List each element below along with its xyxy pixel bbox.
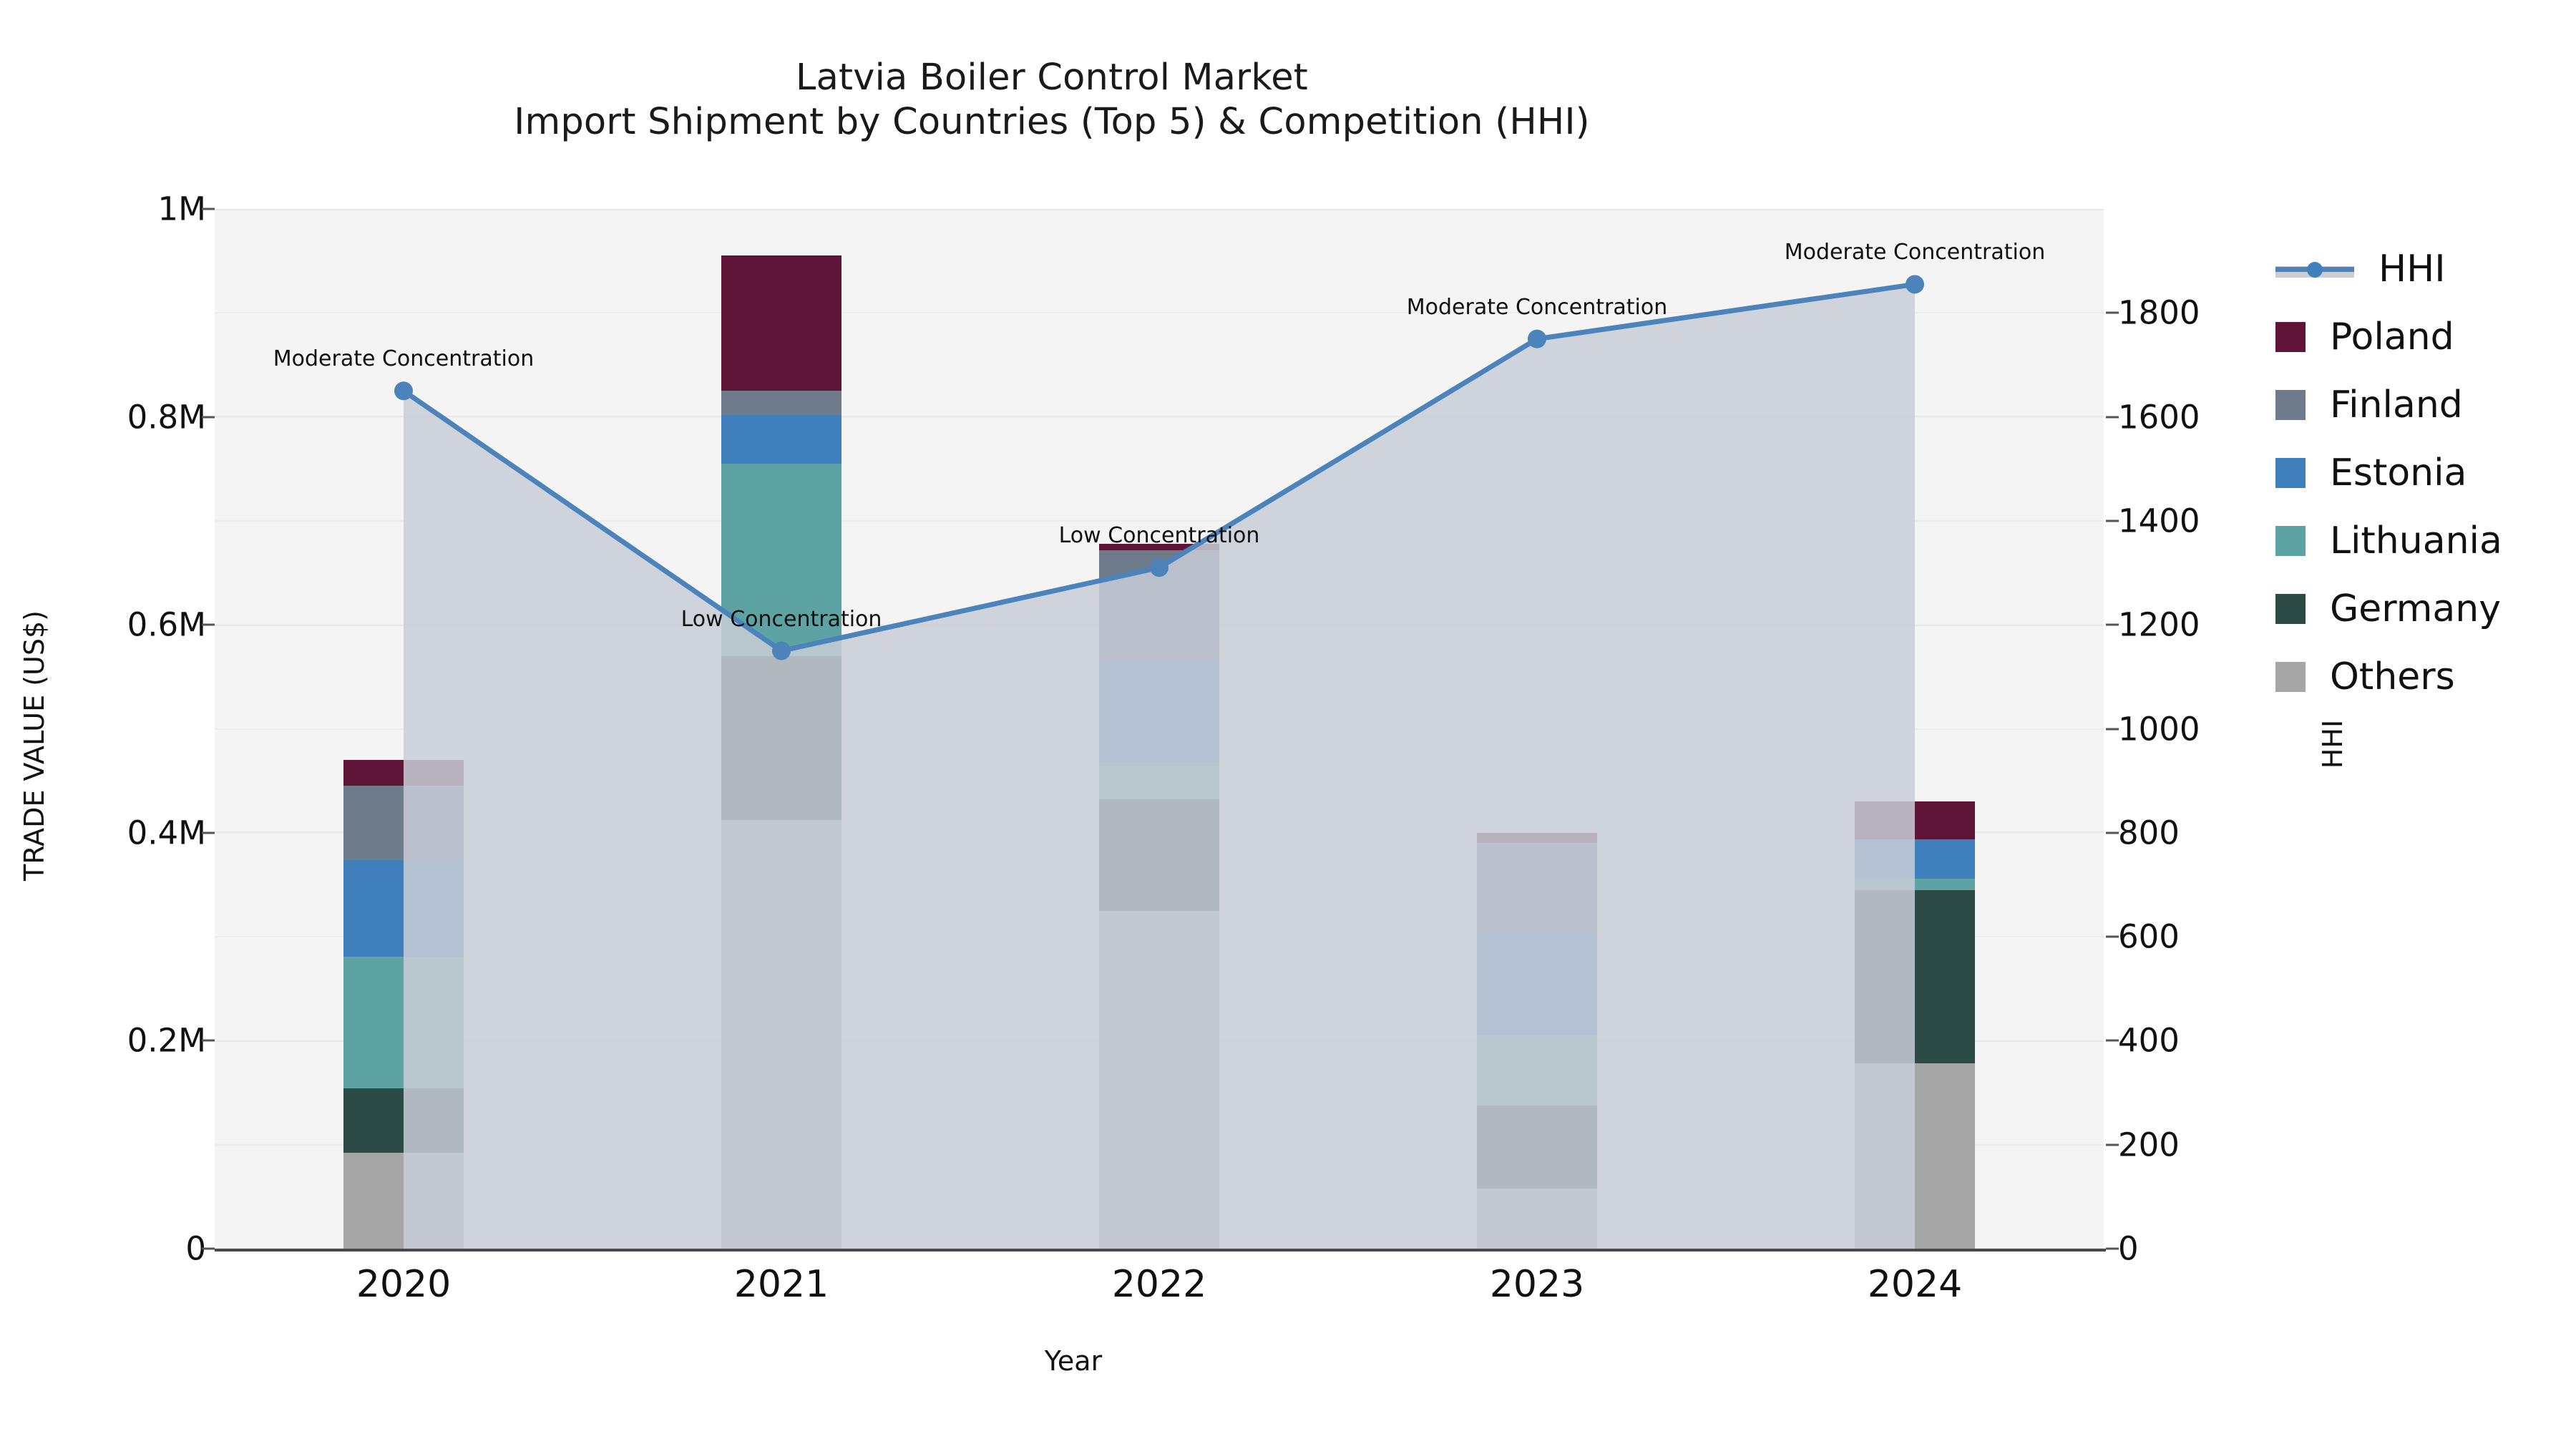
y-tick-left-0.4M: 0.4M: [127, 814, 206, 852]
x-tick-2022: 2022: [1112, 1263, 1206, 1306]
legend-swatch-icon: [2275, 458, 2306, 488]
hhi-annotations: Moderate ConcentrationLow ConcentrationL…: [215, 209, 2104, 1249]
hhi-annotation-2022: Low Concentration: [1059, 523, 1260, 548]
legend-label: Lithuania: [2330, 519, 2502, 562]
legend-label: Estonia: [2330, 452, 2467, 494]
legend-item-lithuania[interactable]: Lithuania: [2275, 507, 2502, 575]
x-axis-line: [215, 1249, 2106, 1252]
legend: HHIPolandFinlandEstoniaLithuaniaGermanyO…: [2275, 235, 2502, 711]
hhi-annotation-2023: Moderate Concentration: [1407, 295, 1667, 320]
y-tick-mark-right: [2106, 624, 2119, 626]
legend-item-finland[interactable]: Finland: [2275, 371, 2502, 439]
legend-swatch-icon: [2275, 594, 2306, 624]
legend-label: HHI: [2379, 248, 2446, 291]
y-tick-right-600: 600: [2118, 918, 2180, 956]
legend-line-icon: [2275, 254, 2354, 284]
y-tick-mark-left: [202, 416, 215, 418]
chart-root: Latvia Boiler Control Market Import Ship…: [0, 0, 2576, 1449]
legend-item-germany[interactable]: Germany: [2275, 575, 2502, 643]
y-tick-mark-right: [2106, 831, 2119, 834]
y-tick-mark-right: [2106, 1143, 2119, 1146]
y-tick-mark-right: [2106, 312, 2119, 314]
y-tick-mark-left: [202, 831, 215, 834]
y-tick-left-1M: 1M: [158, 190, 206, 228]
y-tick-left-0.8M: 0.8M: [127, 398, 206, 436]
y-tick-mark-right: [2106, 936, 2119, 938]
hhi-annotation-2020: Moderate Concentration: [273, 346, 534, 371]
x-tick-2021: 2021: [734, 1263, 829, 1306]
legend-label: Finland: [2330, 384, 2463, 426]
x-tick-2024: 2024: [1868, 1263, 1962, 1306]
hhi-annotation-2021: Low Concentration: [681, 607, 882, 632]
legend-swatch-icon: [2275, 662, 2306, 692]
legend-swatch-icon: [2275, 390, 2306, 420]
y-tick-mark-left: [202, 208, 215, 210]
y-tick-mark-left: [202, 1040, 215, 1042]
legend-item-hhi[interactable]: HHI: [2275, 235, 2502, 303]
hhi-annotation-2024: Moderate Concentration: [1785, 240, 2045, 265]
y-tick-right-1200: 1200: [2118, 606, 2200, 644]
y-tick-mark-right: [2106, 1248, 2119, 1250]
y-tick-left-0.2M: 0.2M: [127, 1022, 206, 1060]
y-tick-right-1400: 1400: [2118, 502, 2200, 540]
y-tick-right-0: 0: [2118, 1230, 2139, 1268]
x-axis-title: Year: [0, 1345, 2147, 1377]
legend-swatch-icon: [2275, 526, 2306, 556]
y-tick-mark-right: [2106, 416, 2119, 418]
chart-title-line-2: Import Shipment by Countries (Top 5) & C…: [0, 100, 2104, 145]
legend-item-estonia[interactable]: Estonia: [2275, 439, 2502, 507]
y-tick-right-1000: 1000: [2118, 710, 2200, 748]
legend-item-others[interactable]: Others: [2275, 643, 2502, 711]
plot-area: Moderate ConcentrationLow ConcentrationL…: [215, 209, 2104, 1249]
y-tick-mark-left: [202, 1248, 215, 1250]
y-tick-right-400: 400: [2118, 1022, 2180, 1060]
y-tick-mark-right: [2106, 1040, 2119, 1042]
y-tick-mark-right: [2106, 728, 2119, 730]
legend-label: Others: [2330, 655, 2455, 698]
chart-title-line-1: Latvia Boiler Control Market: [0, 56, 2104, 100]
y-tick-left-0.6M: 0.6M: [127, 606, 206, 644]
y-tick-right-800: 800: [2118, 814, 2180, 852]
chart-title: Latvia Boiler Control Market Import Ship…: [0, 56, 2104, 145]
legend-label: Poland: [2330, 316, 2454, 358]
x-tick-2020: 2020: [356, 1263, 451, 1306]
x-tick-2023: 2023: [1490, 1263, 1584, 1306]
y-axis-left-title: TRADE VALUE (US$): [19, 531, 50, 960]
y-tick-right-1600: 1600: [2118, 398, 2200, 436]
y-tick-mark-left: [202, 624, 215, 626]
legend-item-poland[interactable]: Poland: [2275, 303, 2502, 371]
legend-swatch-icon: [2275, 322, 2306, 352]
y-tick-right-1800: 1800: [2118, 294, 2200, 332]
y-tick-right-200: 200: [2118, 1126, 2180, 1163]
legend-label: Germany: [2330, 587, 2501, 630]
y-tick-mark-right: [2106, 519, 2119, 522]
